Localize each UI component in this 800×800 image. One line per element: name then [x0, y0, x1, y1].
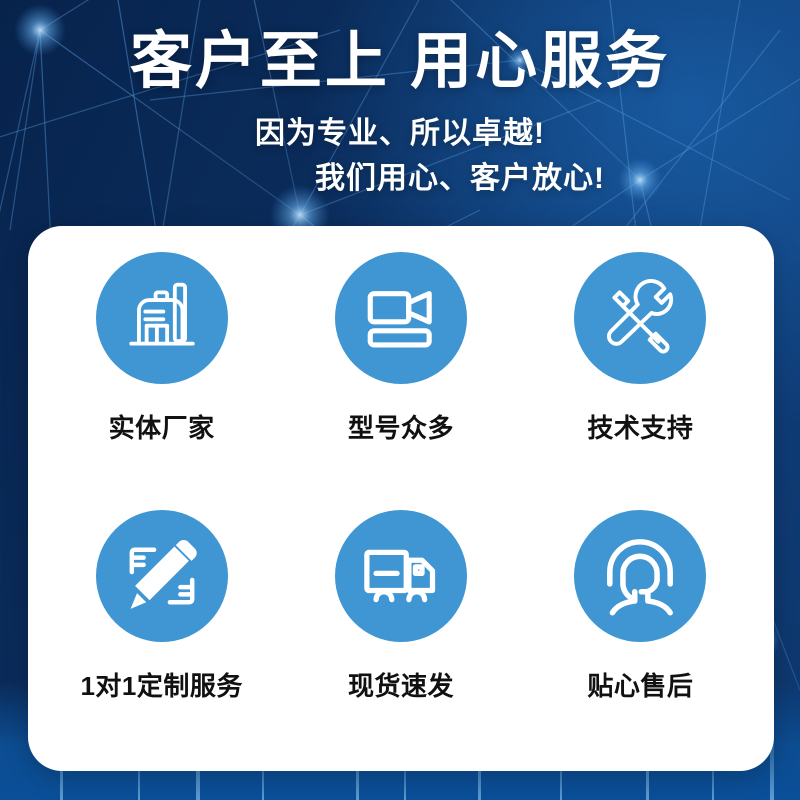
- feature-label: 实体厂家: [109, 408, 215, 445]
- feature-icon-badge: [574, 252, 706, 384]
- page-title: 客户至上 用心服务: [0, 26, 800, 97]
- feature-item[interactable]: 技术支持: [521, 252, 760, 504]
- subtitle-line-2: 我们用心、客户放心!: [0, 156, 800, 201]
- feature-item[interactable]: 贴心售后: [521, 504, 760, 756]
- feature-item[interactable]: 现货速发: [281, 504, 520, 756]
- feature-label: 1对1定制服务: [80, 666, 242, 703]
- feature-item[interactable]: 1对1定制服务: [42, 504, 281, 756]
- feature-label: 贴心售后: [587, 666, 693, 703]
- subtitle-line-1: 因为专业、所以卓越!: [0, 111, 800, 156]
- video-camera-icon: [360, 277, 442, 359]
- factory-icon: [121, 277, 203, 359]
- delivery-truck-icon: [359, 534, 443, 618]
- features-grid: 实体厂家 型号众多: [28, 226, 774, 771]
- feature-item[interactable]: 型号众多: [281, 252, 520, 504]
- feature-label: 技术支持: [587, 408, 693, 445]
- headset-support-icon: [598, 534, 682, 618]
- pencil-ruler-icon: [120, 534, 204, 618]
- feature-label: 型号众多: [348, 408, 454, 445]
- features-card: 实体厂家 型号众多: [28, 226, 774, 771]
- feature-icon-badge: [335, 510, 467, 642]
- feature-label: 现货速发: [348, 666, 454, 703]
- header: 客户至上 用心服务 因为专业、所以卓越! 我们用心、客户放心!: [0, 0, 800, 201]
- tools-icon: [598, 276, 682, 360]
- feature-icon-badge: [574, 510, 706, 642]
- promo-banner: 客户至上 用心服务 因为专业、所以卓越! 我们用心、客户放心!: [0, 0, 800, 800]
- feature-item[interactable]: 实体厂家: [42, 252, 281, 504]
- feature-icon-badge: [96, 252, 228, 384]
- feature-icon-badge: [96, 510, 228, 642]
- feature-icon-badge: [335, 252, 467, 384]
- subtitle-group: 因为专业、所以卓越! 我们用心、客户放心!: [0, 111, 800, 201]
